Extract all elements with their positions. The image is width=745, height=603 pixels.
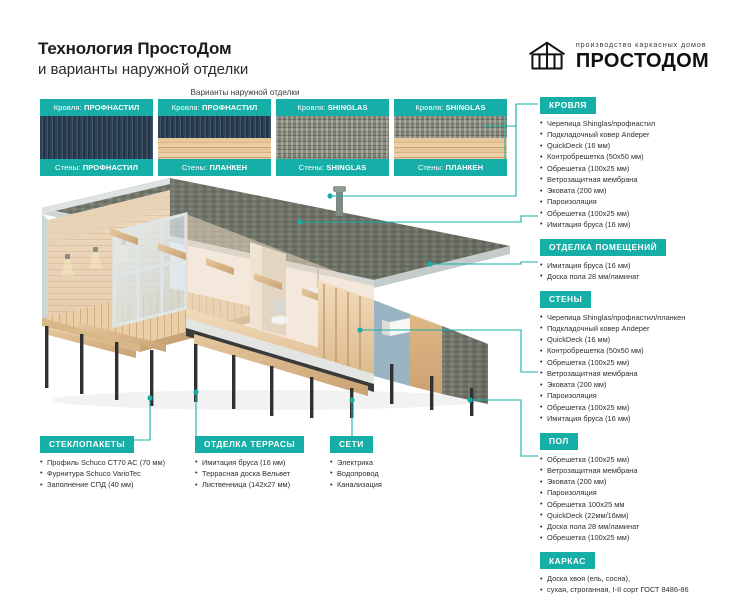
- list-item: Имитация бруса (16 мм): [540, 260, 740, 271]
- list-item: QuickDeck (16 мм): [540, 334, 740, 345]
- specs-right-column: КРОВЛЯ Черепица Shinglas/профнастил Подк…: [540, 95, 740, 603]
- panel-title: ПОЛ: [540, 433, 578, 450]
- panel-list: Имитация бруса (16 мм) Доска пола 28 мм/…: [540, 260, 740, 283]
- house-cutaway-illustration: [18, 168, 526, 418]
- swatch-roof-value: SHINGLAS: [328, 103, 368, 112]
- list-item: Подкладочный ковер Andeper: [540, 323, 740, 334]
- list-item: Доска пола 28 мм/ламинат: [540, 521, 740, 532]
- list-item: Обрешетка (100х25 мм): [540, 532, 740, 543]
- list-item: Канализация: [330, 479, 382, 490]
- title-line-1: Технология ПростоДом: [38, 38, 248, 59]
- title-line-2: и варианты наружной отделки: [38, 60, 248, 80]
- swatch-texture: [394, 116, 507, 159]
- panel-list: Профиль Schuco CT70 AC (70 мм) Фурнитура…: [40, 457, 165, 491]
- panel-title: ОТДЕЛКА ПОМЕЩЕНИЙ: [540, 239, 666, 256]
- panel-walls: СТЕНЫ Черепица Shinglas/профнастил/планк…: [540, 289, 740, 424]
- logo-tagline: производство каркасных домов: [576, 41, 709, 48]
- house-outline-icon: [527, 40, 567, 72]
- panel-roof: КРОВЛЯ Черепица Shinglas/профнастил Подк…: [540, 95, 740, 230]
- swatch-roof-value: ПРОФНАСТИЛ: [202, 103, 257, 112]
- panel-title: СЕТИ: [330, 436, 373, 453]
- panel-frame: КАРКАС Доска хвоя (ель, сосна), сухая, с…: [540, 551, 740, 596]
- swatch-roof-prefix: Кровля:: [415, 103, 443, 112]
- swatch-card[interactable]: Кровля: SHINGLAS Стены: ПЛАНКЕН: [394, 99, 507, 176]
- panel-floor: ПОЛ Обрешетка (100х25 мм) Ветрозащитная …: [540, 431, 740, 544]
- list-item-continuation: Лиственница (142х27 мм): [195, 479, 304, 490]
- list-item: Обрешетка (100х25 мм): [540, 163, 740, 174]
- list-item: QuickDeck (22мм/16мм): [540, 510, 740, 521]
- infographic-root: Технология ПростоДом и варианты наружной…: [0, 0, 745, 533]
- list-item: Обрешетка (100х25 мм): [540, 357, 740, 368]
- swatch-roof-label: Кровля: ПРОФНАСТИЛ: [40, 99, 153, 116]
- swatch-row: Кровля: ПРОФНАСТИЛ Стены: ПРОФНАСТИЛ Кро…: [40, 99, 507, 176]
- list-item: Обрешетка (100х25 мм): [540, 208, 740, 219]
- list-item: Обрешетка 100х25 мм: [540, 499, 740, 510]
- list-item: QuickDeck (16 мм): [540, 140, 740, 151]
- panel-list: Имитация бруса (16 мм) Террасная доска В…: [195, 457, 304, 491]
- swatch-roof-prefix: Кровля:: [297, 103, 325, 112]
- panel-title: КРОВЛЯ: [540, 97, 596, 114]
- panel-list: Электрика Водопровод Канализация: [330, 457, 382, 491]
- list-item: Имитация бруса (16 мм): [540, 219, 740, 230]
- list-item: Эковата (200 мм): [540, 185, 740, 196]
- swatch-roof-prefix: Кровля:: [54, 103, 82, 112]
- panel-list: Доска хвоя (ель, сосна), сухая, строганн…: [540, 573, 740, 596]
- swatch-roof-value: ПРОФНАСТИЛ: [84, 103, 139, 112]
- logo-wordmark: ПРОСТОДОМ: [576, 51, 709, 71]
- swatch-roof-label: Кровля: ПРОФНАСТИЛ: [158, 99, 271, 116]
- list-item: Террасная доска Вельвет: [195, 468, 304, 479]
- list-item: Контробрешетка (50х50 мм): [540, 151, 740, 162]
- list-item: Имитация бруса (16 мм): [195, 457, 304, 468]
- list-item: Водопровод: [330, 468, 382, 479]
- swatch-texture: [40, 116, 153, 159]
- list-item: Доска пола 28 мм/ламинат: [540, 271, 740, 282]
- swatch-texture: [158, 116, 271, 159]
- swatch-card[interactable]: Кровля: ПРОФНАСТИЛ Стены: ПРОФНАСТИЛ: [40, 99, 153, 176]
- panel-title: СТЕКЛОПАКЕТЫ: [40, 436, 134, 453]
- swatch-roof-label: Кровля: SHINGLAS: [276, 99, 389, 116]
- panel-glazing: СТЕКЛОПАКЕТЫ Профиль Schuco CT70 AC (70 …: [40, 434, 165, 490]
- list-item: Доска хвоя (ель, сосна),: [540, 573, 740, 584]
- panel-list: Черепица Shinglas/профнастил Подкладочны…: [540, 118, 740, 231]
- page-title: Технология ПростоДом и варианты наружной…: [38, 38, 248, 80]
- list-item: Контробрешетка (50х50 мм): [540, 345, 740, 356]
- list-item-continuation: сухая, строганная, I-II сорт ГОСТ 8486-8…: [540, 584, 740, 595]
- panel-utilities: СЕТИ Электрика Водопровод Канализация: [330, 434, 382, 490]
- swatch-card[interactable]: Кровля: ПРОФНАСТИЛ Стены: ПЛАНКЕН: [158, 99, 271, 176]
- list-item: Подкладочный ковер Andeper: [540, 129, 740, 140]
- swatch-roof-label: Кровля: SHINGLAS: [394, 99, 507, 116]
- list-item: Обрешетка (100х25 мм): [540, 454, 740, 465]
- list-item: Ветрозащитная мембрана: [540, 368, 740, 379]
- panel-list: Черепица Shinglas/профнастил/планкен Под…: [540, 312, 740, 425]
- list-item: Электрика: [330, 457, 382, 468]
- list-item: Черепица Shinglas/профнастил/планкен: [540, 312, 740, 323]
- panel-title: СТЕНЫ: [540, 291, 591, 308]
- list-item: Ветрозащитная мембрана: [540, 174, 740, 185]
- list-item: Эковата (200 мм): [540, 476, 740, 487]
- swatch-roof-value: SHINGLAS: [446, 103, 486, 112]
- swatch-roof-prefix: Кровля:: [172, 103, 200, 112]
- panel-title: КАРКАС: [540, 552, 595, 569]
- list-item: Пароизоляция: [540, 390, 740, 401]
- list-item: Профиль Schuco CT70 AC (70 мм): [40, 457, 165, 468]
- list-item: Эковата (200 мм): [540, 379, 740, 390]
- swatch-card[interactable]: Кровля: SHINGLAS Стены: SHINGLAS: [276, 99, 389, 176]
- swatches-caption: Варианты наружной отделки: [0, 88, 490, 97]
- list-item: Пароизоляция: [540, 487, 740, 498]
- panel-title: ОТДЕЛКА ТЕРРАСЫ: [195, 436, 304, 453]
- list-item: Ветрозащитная мембрана: [540, 465, 740, 476]
- brand-logo: производство каркасных домов ПРОСТОДОМ: [527, 40, 709, 72]
- panel-list: Обрешетка (100х25 мм) Ветрозащитная мемб…: [540, 454, 740, 544]
- list-item: Черепица Shinglas/профнастил: [540, 118, 740, 129]
- list-item: Обрешетка (100х25 мм): [540, 402, 740, 413]
- panel-terrace-finish: ОТДЕЛКА ТЕРРАСЫ Имитация бруса (16 мм) Т…: [195, 434, 304, 490]
- list-item: Фурнитура Schuco VarioTec: [40, 468, 165, 479]
- swatch-texture: [276, 116, 389, 159]
- list-item: Имитация бруса (16 мм): [540, 413, 740, 424]
- list-item: Заполнение СПД (40 мм): [40, 479, 165, 490]
- panel-interior-finish: ОТДЕЛКА ПОМЕЩЕНИЙ Имитация бруса (16 мм)…: [540, 237, 740, 282]
- list-item: Пароизоляция: [540, 196, 740, 207]
